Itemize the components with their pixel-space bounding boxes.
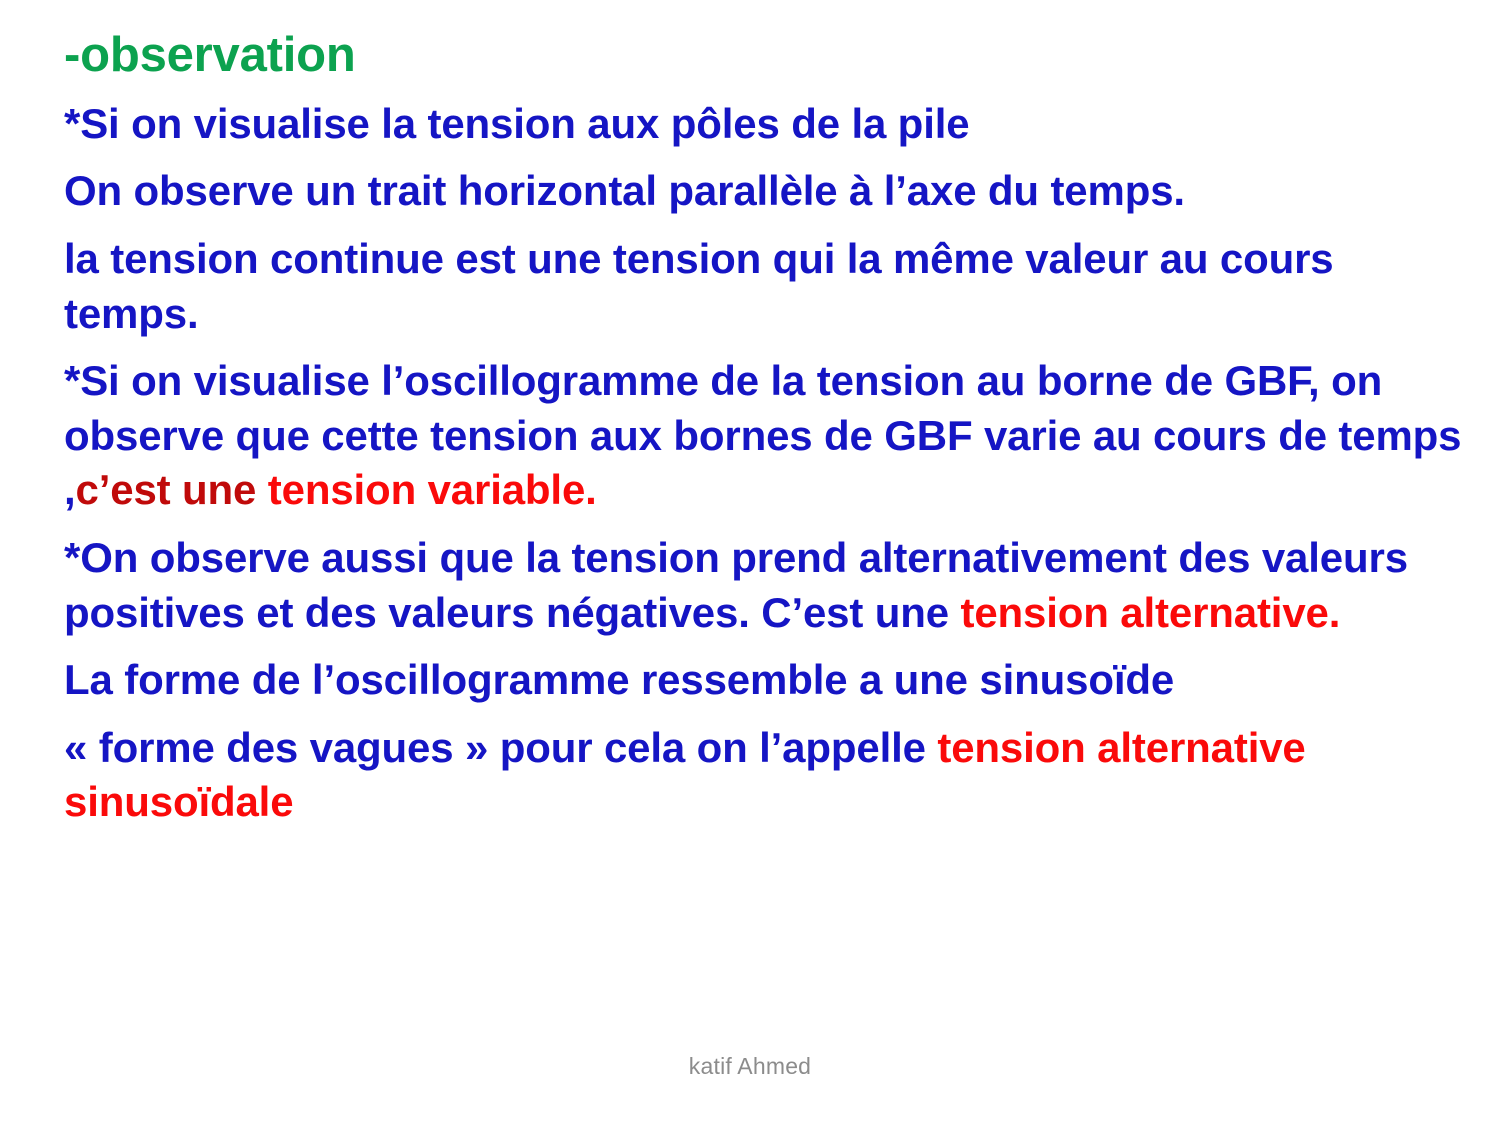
- slide-canvas: -observation *Si on visualise la tension…: [0, 0, 1500, 1125]
- slide-footer-author: katif Ahmed: [0, 1053, 1500, 1080]
- text-run-accent: c’est une: [76, 466, 268, 513]
- text-run: *Si on visualise la tension aux pôles de…: [64, 100, 969, 147]
- text-run: la tension continue est une tension qui …: [64, 235, 1334, 337]
- text-run: La forme de l’oscillogramme ressemble a …: [64, 656, 1174, 703]
- text-run-highlight: tension alternative.: [960, 589, 1340, 636]
- text-run: On observe un trait horizontal parallèle…: [64, 167, 1185, 214]
- text-run: « forme des vagues » pour cela on l’appe…: [64, 724, 937, 771]
- page-title: -observation: [64, 28, 1464, 83]
- paragraph-2: On observe un trait horizontal parallèle…: [64, 164, 1464, 219]
- slide-body: -observation *Si on visualise la tension…: [64, 28, 1464, 843]
- text-run-highlight: tension variable.: [268, 466, 597, 513]
- paragraph-6: La forme de l’oscillogramme ressemble a …: [64, 653, 1464, 708]
- paragraph-1: *Si on visualise la tension aux pôles de…: [64, 97, 1464, 152]
- paragraph-5: *On observe aussi que la tension prend a…: [64, 531, 1464, 640]
- paragraph-7: « forme des vagues » pour cela on l’appe…: [64, 721, 1464, 830]
- paragraph-4: *Si on visualise l’oscillogramme de la t…: [64, 354, 1464, 518]
- paragraph-3: la tension continue est une tension qui …: [64, 232, 1464, 341]
